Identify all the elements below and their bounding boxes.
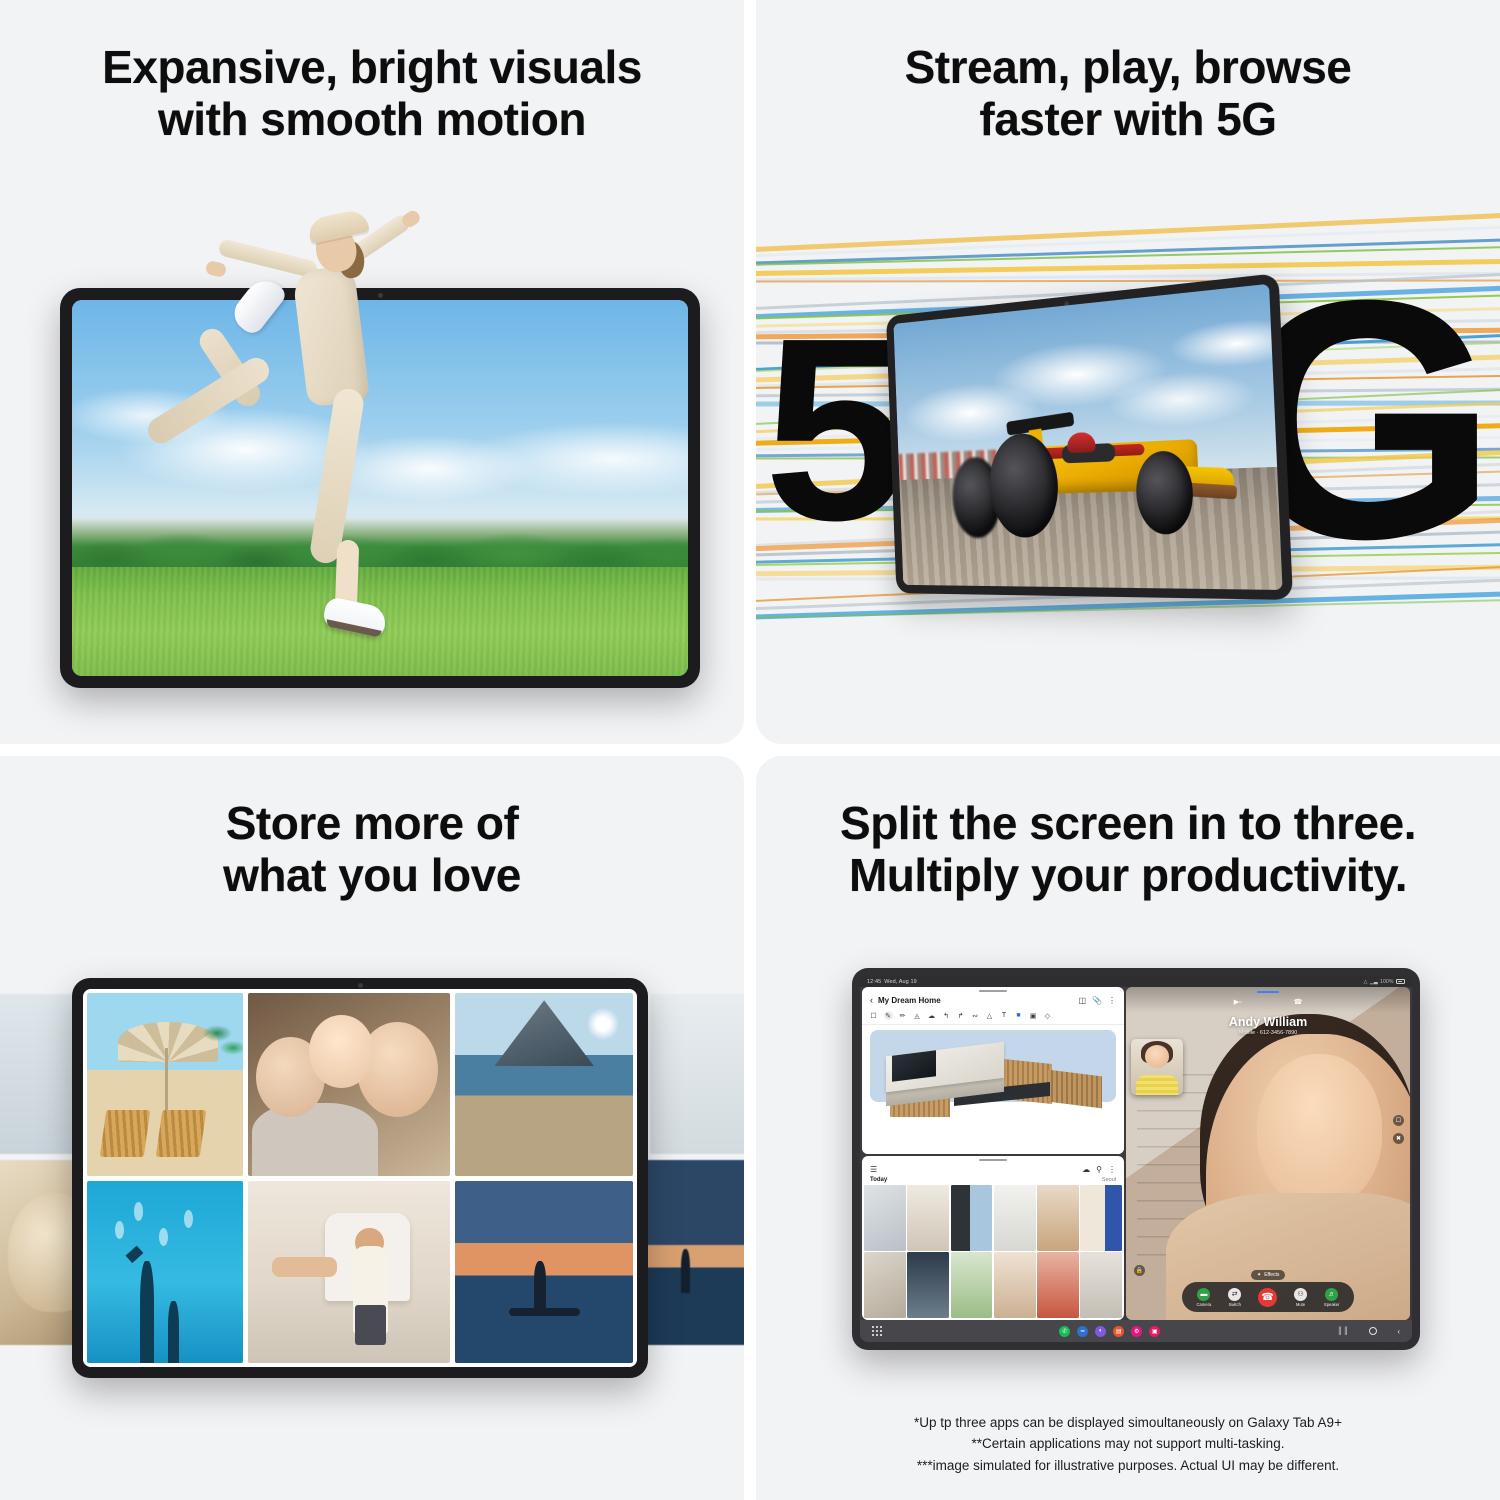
gallery-thumbnail[interactable] (907, 1252, 949, 1318)
camera-label: Camera (1196, 1302, 1211, 1307)
files-app-icon[interactable]: ▤ (1113, 1326, 1124, 1337)
tablet-device-gallery (72, 978, 648, 1378)
split-screen-work-area: ‹ My Dream Home ◫ 📎 ⋮ ☐ ✎ (860, 987, 1412, 1320)
panel-multitask-headline: Split the screen in to three. Multiply y… (756, 756, 1500, 901)
child-silhouette (168, 1301, 179, 1363)
panel-connectivity: Stream, play, browse faster with 5G 5 G (756, 0, 1500, 744)
switch-label: Switch (1229, 1302, 1241, 1307)
speaker-control[interactable]: ♬ Speaker (1324, 1288, 1340, 1307)
family-body (252, 1103, 377, 1176)
feature-grid: Expansive, bright visuals with smooth mo… (0, 0, 1500, 1500)
fish-shape (184, 1210, 193, 1228)
settings-app-icon[interactable]: ⚙ (1131, 1326, 1142, 1337)
dancer-landing-shoe (322, 596, 389, 638)
more-options-icon[interactable]: ⋮ (1108, 996, 1116, 1005)
lasso-icon[interactable]: ∾ (971, 1011, 980, 1020)
adult-silhouette (140, 1261, 154, 1363)
headline-line-2: what you love (0, 850, 744, 902)
gallery-location-label: Seoul (1102, 1177, 1116, 1183)
panel-storage: Store more of what you love (0, 756, 744, 1500)
mountain-peak (494, 1000, 593, 1066)
switch-camera-control[interactable]: ⇄ Switch (1228, 1288, 1241, 1307)
fish-shape (134, 1202, 143, 1220)
beach-chair-2 (156, 1110, 206, 1157)
toddler-pants (355, 1305, 385, 1345)
redo-icon[interactable]: ↱ (956, 1011, 965, 1020)
gallery-thumbnail[interactable] (994, 1185, 1036, 1251)
gallery-thumbnail[interactable] (907, 1185, 949, 1251)
self-view-body (1136, 1075, 1178, 1095)
caller-face (1257, 1054, 1382, 1207)
switch-camera-icon: ⇄ (1228, 1288, 1241, 1301)
photo-aquarium (87, 1181, 243, 1364)
footnote-2: **Certain applications may not support m… (756, 1433, 1500, 1454)
gallery-thumbnail[interactable] (864, 1252, 906, 1318)
dancer-left-arm (217, 238, 318, 279)
tablet-device-multitask: 12:45 Wed, Aug 19 △ ▁▃ 100% (852, 968, 1420, 1350)
eraser-icon[interactable]: ◬ (913, 1011, 922, 1020)
book-view-icon[interactable]: ◫ (1078, 996, 1086, 1005)
photo-mountain-lake (455, 993, 633, 1176)
gallery-thumbnail[interactable] (951, 1252, 993, 1318)
tablet-screen-multitask: 12:45 Wed, Aug 19 △ ▁▃ 100% (860, 976, 1412, 1342)
palm-fronds (196, 1004, 243, 1077)
panel-multitask: Split the screen in to three. Multiply y… (756, 756, 1500, 1500)
driver-helmet (1067, 432, 1096, 453)
camera-control[interactable]: ▬ Camera (1196, 1288, 1211, 1307)
end-call-icon: ☎ (1258, 1288, 1277, 1307)
attachment-icon[interactable]: 📎 (1092, 996, 1102, 1005)
layout-toggle-icon[interactable]: ☐ (1393, 1115, 1404, 1126)
photo-grid (83, 989, 637, 1367)
headline-line-1: Stream, play, browse (905, 41, 1352, 93)
messages-app-icon[interactable]: ━ (1077, 1326, 1088, 1337)
app-drawer-icon[interactable] (872, 1326, 882, 1336)
sketch-wood-block-2 (1048, 1070, 1102, 1109)
dancer-torso (292, 265, 370, 408)
window-grab-handle[interactable] (979, 1159, 1007, 1161)
panel-connectivity-headline: Stream, play, browse faster with 5G (756, 0, 1500, 145)
end-call-control[interactable]: ☎ (1258, 1288, 1277, 1307)
gallery-app-icon[interactable]: ▣ (1149, 1326, 1160, 1337)
more-options-icon[interactable]: ⋮ (1108, 1165, 1116, 1174)
dancer-raised-shoe (227, 272, 288, 337)
text-icon[interactable]: T (1000, 1011, 1009, 1020)
navigation-buttons: ║║ ‹ (1337, 1327, 1400, 1336)
wifi-icon: △ (1363, 979, 1367, 985)
headline-line-2: with smooth motion (0, 94, 744, 146)
gallery-thumbnail[interactable] (1080, 1252, 1122, 1318)
caller-number: Mobile · 612-3456-7890 (1126, 1030, 1410, 1036)
notes-app-window[interactable]: ‹ My Dream Home ◫ 📎 ⋮ ☐ ✎ (862, 987, 1124, 1154)
gallery-thumbnail[interactable] (864, 1185, 906, 1251)
back-button[interactable]: ‹ (1397, 1327, 1400, 1336)
lock-icon[interactable]: 🔒 (1134, 1265, 1145, 1276)
headline-line-2: Multiply your productivity. (756, 850, 1500, 902)
headline-line-1: Split the screen in to three. (840, 797, 1416, 849)
tablet-screen-photo-grid (83, 989, 637, 1367)
signal-icon: ▁▃ (1370, 979, 1378, 985)
mute-label: Mute (1296, 1302, 1305, 1307)
cloud-sync-icon[interactable]: ☁ (1082, 1165, 1090, 1174)
photo-toddler-living-room (248, 1181, 450, 1364)
car-rear-wing (1006, 412, 1074, 436)
effects-button[interactable]: ✦ Effects (1251, 1270, 1285, 1280)
status-bar-date: Wed, Aug 19 (884, 979, 917, 985)
gallery-section-label: Today (870, 1177, 887, 1183)
color-icon[interactable]: ■ (1014, 1011, 1023, 1020)
panel-display-headline: Expansive, bright visuals with smooth mo… (0, 0, 744, 145)
tablet-screen-racing (893, 284, 1282, 590)
photo-family (248, 993, 450, 1176)
speaker-icon: ♬ (1325, 1288, 1338, 1301)
photo-beach (87, 993, 243, 1176)
racing-wallpaper (893, 284, 1282, 590)
front-camera-icon (358, 983, 363, 988)
gallery-app-window[interactable]: ☰ ☁ ⚲ ⋮ Today Seoul (862, 1156, 1124, 1320)
dancer-left-hand (205, 260, 228, 278)
tag-icon[interactable]: ◇ (1043, 1011, 1052, 1020)
headline-line-1: Store more of (226, 797, 519, 849)
phone-icon[interactable]: ☎ (1294, 998, 1303, 1006)
window-grab-handle[interactable] (979, 990, 1007, 992)
gallery-thumbnail-grid (862, 1185, 1124, 1320)
image-icon[interactable]: ▣ (1029, 1011, 1038, 1020)
camera-icon: ▬ (1197, 1288, 1210, 1301)
footnote-3: ***image simulated for illustrative purp… (756, 1455, 1500, 1476)
overflow-photo-right-top (650, 994, 744, 1154)
pen-icon[interactable]: ✎ (884, 1011, 893, 1020)
minimize-icon[interactable]: ✖ (1393, 1133, 1404, 1144)
footnote-block: *Up tp three apps can be displayed simou… (756, 1412, 1500, 1476)
fish-shape (115, 1221, 124, 1239)
sparkle-icon: ✦ (1257, 1272, 1261, 1278)
undo-icon[interactable]: ↰ (942, 1011, 951, 1020)
tablet-device-5g (886, 273, 1293, 600)
caller-name: Andy William (1126, 1015, 1410, 1029)
mute-control[interactable]: ⚇ Mute (1294, 1288, 1307, 1307)
dancer-front-leg (308, 387, 365, 566)
gallery-section-row: Today Seoul (862, 1176, 1124, 1185)
notes-header-actions: ◫ 📎 ⋮ (1078, 996, 1116, 1005)
photo-sunset-paddleboard (455, 1181, 633, 1364)
formula-one-car (921, 391, 1235, 552)
baby-face (309, 1015, 374, 1088)
headline-line-1: Expansive, bright visuals (102, 41, 642, 93)
battery-percent-label: 100% (1380, 979, 1393, 985)
self-view-pip[interactable] (1131, 1039, 1183, 1095)
notes-title: My Dream Home (878, 996, 941, 1005)
gallery-thumbnail[interactable] (994, 1252, 1036, 1318)
gallery-thumbnail[interactable] (1037, 1185, 1079, 1251)
shape-icon[interactable]: △ (985, 1011, 994, 1020)
notes-toolbar: ☐ ✎ ✏ ◬ ☁ ↰ ↱ ∾ △ T ■ ▣ (862, 1008, 1124, 1025)
panel-storage-headline: Store more of what you love (0, 756, 744, 901)
dancer-figure (196, 196, 496, 646)
reaching-arm (272, 1257, 337, 1277)
home-button[interactable] (1369, 1327, 1377, 1335)
highlighter-icon[interactable]: ✏ (898, 1011, 907, 1020)
sun-flare (587, 1008, 619, 1041)
system-taskbar: ✆━◐▤⚙▣ ║║ ‹ (860, 1320, 1412, 1342)
cloud-icon[interactable]: ☁ (927, 1011, 936, 1020)
gallery-thumbnail[interactable] (1080, 1185, 1122, 1251)
panel-display: Expansive, bright visuals with smooth mo… (0, 0, 744, 744)
recents-button[interactable]: ║║ (1337, 1328, 1349, 1335)
beach-chair-1 (99, 1110, 149, 1157)
self-view-face (1145, 1045, 1170, 1069)
paddler-silhouette (534, 1261, 546, 1308)
taskbar-app-icons: ✆━◐▤⚙▣ (882, 1326, 1337, 1337)
fish-shape (159, 1228, 168, 1246)
hamburger-menu-icon[interactable]: ☰ (870, 1165, 877, 1174)
paddleboard (509, 1308, 580, 1315)
gallery-thumbnail[interactable] (951, 1185, 993, 1251)
select-icon[interactable]: ☐ (869, 1011, 878, 1020)
notes-canvas-house-sketch[interactable] (862, 1025, 1124, 1154)
video-camera-icon[interactable]: ▶▫ (1234, 998, 1242, 1006)
headline-line-2: faster with 5G (756, 94, 1500, 146)
back-chevron-icon[interactable]: ‹ (870, 996, 873, 1005)
footnote-1: *Up tp three apps can be displayed simou… (756, 1412, 1500, 1433)
status-bar-time: 12:45 (867, 979, 881, 985)
call-controls-bar: ▬ Camera ⇄ Switch ☎ ⚇ (1182, 1282, 1354, 1312)
mic-off-icon: ⚇ (1294, 1288, 1307, 1301)
internet-app-icon[interactable]: ◐ (1095, 1326, 1106, 1337)
video-call-app-window[interactable]: ▶▫ ☎ Andy William Mobile · 612-3456-7890… (1126, 987, 1410, 1320)
gallery-header-actions: ☁ ⚲ ⋮ (1082, 1165, 1116, 1174)
status-bar: 12:45 Wed, Aug 19 △ ▁▃ 100% (860, 976, 1412, 987)
search-icon[interactable]: ⚲ (1096, 1165, 1102, 1174)
speaker-label: Speaker (1324, 1302, 1340, 1307)
gallery-thumbnail[interactable] (1037, 1252, 1079, 1318)
effects-label: Effects (1264, 1272, 1279, 1278)
phone-app-icon[interactable]: ✆ (1059, 1326, 1070, 1337)
left-app-column: ‹ My Dream Home ◫ 📎 ⋮ ☐ ✎ (862, 987, 1124, 1320)
video-call-top-icons: ▶▫ ☎ (1126, 998, 1410, 1006)
battery-icon (1396, 979, 1405, 984)
sketch-glass-window (892, 1050, 936, 1081)
